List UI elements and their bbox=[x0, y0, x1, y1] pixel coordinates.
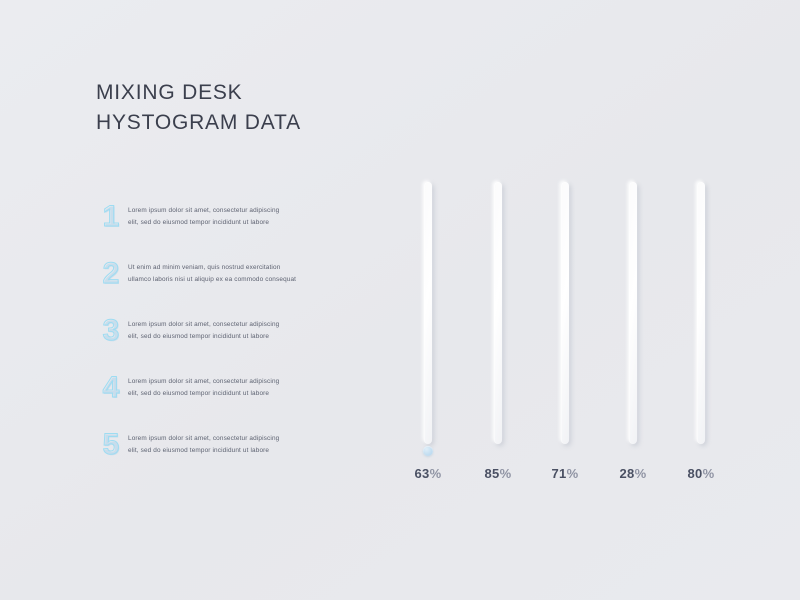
list-item-text-line-1: Lorem ipsum dolor sit amet, consectetur … bbox=[128, 207, 279, 214]
slider-1[interactable]: 63% bbox=[406, 178, 450, 488]
slider-value-number: 80 bbox=[688, 466, 703, 481]
slider-value-number: 85 bbox=[485, 466, 500, 481]
list-item-number: 1 bbox=[96, 200, 126, 234]
list-item-text-line-2: ullamco laboris nisi ut aliquip ex ea co… bbox=[128, 274, 328, 286]
slide-canvas: MIXING DESK HYSTOGRAM DATA 1 Lorem ipsum… bbox=[0, 0, 800, 600]
list-item-text-line-2: elit, sed do eiusmod tempor incididunt u… bbox=[128, 217, 328, 229]
list-item-text: Lorem ipsum dolor sit amet, consectetur … bbox=[128, 205, 328, 228]
slider-track[interactable] bbox=[629, 182, 637, 444]
list-item-text-line-1: Lorem ipsum dolor sit amet, consectetur … bbox=[128, 378, 279, 385]
list-item-text-line-1: Ut enim ad minim veniam, quis nostrud ex… bbox=[128, 264, 280, 271]
list-item-number: 2 bbox=[96, 257, 126, 291]
page-title-line-2: HYSTOGRAM DATA bbox=[96, 108, 516, 138]
slider-3[interactable]: 71% bbox=[543, 178, 587, 488]
list-item-text-line-1: Lorem ipsum dolor sit amet, consectetur … bbox=[128, 435, 279, 442]
slider-value-label: 80% bbox=[679, 466, 723, 481]
slider-value-number: 28 bbox=[620, 466, 635, 481]
list-item-text-line-2: elit, sed do eiusmod tempor incididunt u… bbox=[128, 445, 328, 457]
slider-track[interactable] bbox=[561, 182, 569, 444]
slider-track[interactable] bbox=[697, 182, 705, 444]
list-item-text: Ut enim ad minim veniam, quis nostrud ex… bbox=[128, 262, 328, 285]
list-item-text-line-1: Lorem ipsum dolor sit amet, consectetur … bbox=[128, 321, 279, 328]
histogram-sliders: 63% 85% 71% 28% bbox=[396, 178, 746, 488]
page-title-line-1: MIXING DESK bbox=[96, 78, 516, 108]
list-item-text: Lorem ipsum dolor sit amet, consectetur … bbox=[128, 319, 328, 342]
percent-sign: % bbox=[567, 466, 579, 481]
list-item-number: 4 bbox=[96, 371, 126, 405]
slider-value-label: 63% bbox=[406, 466, 450, 481]
slider-track[interactable] bbox=[494, 182, 502, 444]
list-item-text: Lorem ipsum dolor sit amet, consectetur … bbox=[128, 376, 328, 399]
percent-sign: % bbox=[430, 466, 442, 481]
percent-sign: % bbox=[703, 466, 715, 481]
slider-track[interactable] bbox=[424, 182, 432, 444]
list-item-text-line-2: elit, sed do eiusmod tempor incididunt u… bbox=[128, 331, 328, 343]
list-item-number: 3 bbox=[96, 314, 126, 348]
list-item-text-line-2: elit, sed do eiusmod tempor incididunt u… bbox=[128, 388, 328, 400]
slider-value-number: 63 bbox=[415, 466, 430, 481]
slider-value-number: 71 bbox=[552, 466, 567, 481]
percent-sign: % bbox=[635, 466, 647, 481]
slider-5[interactable]: 80% bbox=[679, 178, 723, 488]
list-item[interactable]: 4 Lorem ipsum dolor sit amet, consectetu… bbox=[96, 367, 356, 424]
list-item[interactable]: 1 Lorem ipsum dolor sit amet, consectetu… bbox=[96, 196, 356, 253]
list-item-number: 5 bbox=[96, 428, 126, 462]
percent-sign: % bbox=[500, 466, 512, 481]
page-title: MIXING DESK HYSTOGRAM DATA bbox=[96, 78, 516, 138]
list-item[interactable]: 3 Lorem ipsum dolor sit amet, consectetu… bbox=[96, 310, 356, 367]
list-item[interactable]: 5 Lorem ipsum dolor sit amet, consectetu… bbox=[96, 424, 356, 481]
slider-knob[interactable] bbox=[423, 446, 433, 456]
list-item-text: Lorem ipsum dolor sit amet, consectetur … bbox=[128, 433, 328, 456]
slider-4[interactable]: 28% bbox=[611, 178, 655, 488]
slider-value-label: 85% bbox=[476, 466, 520, 481]
slider-value-label: 71% bbox=[543, 466, 587, 481]
slider-value-label: 28% bbox=[611, 466, 655, 481]
numbered-list: 1 Lorem ipsum dolor sit amet, consectetu… bbox=[96, 196, 356, 481]
list-item[interactable]: 2 Ut enim ad minim veniam, quis nostrud … bbox=[96, 253, 356, 310]
slider-2[interactable]: 85% bbox=[476, 178, 520, 488]
